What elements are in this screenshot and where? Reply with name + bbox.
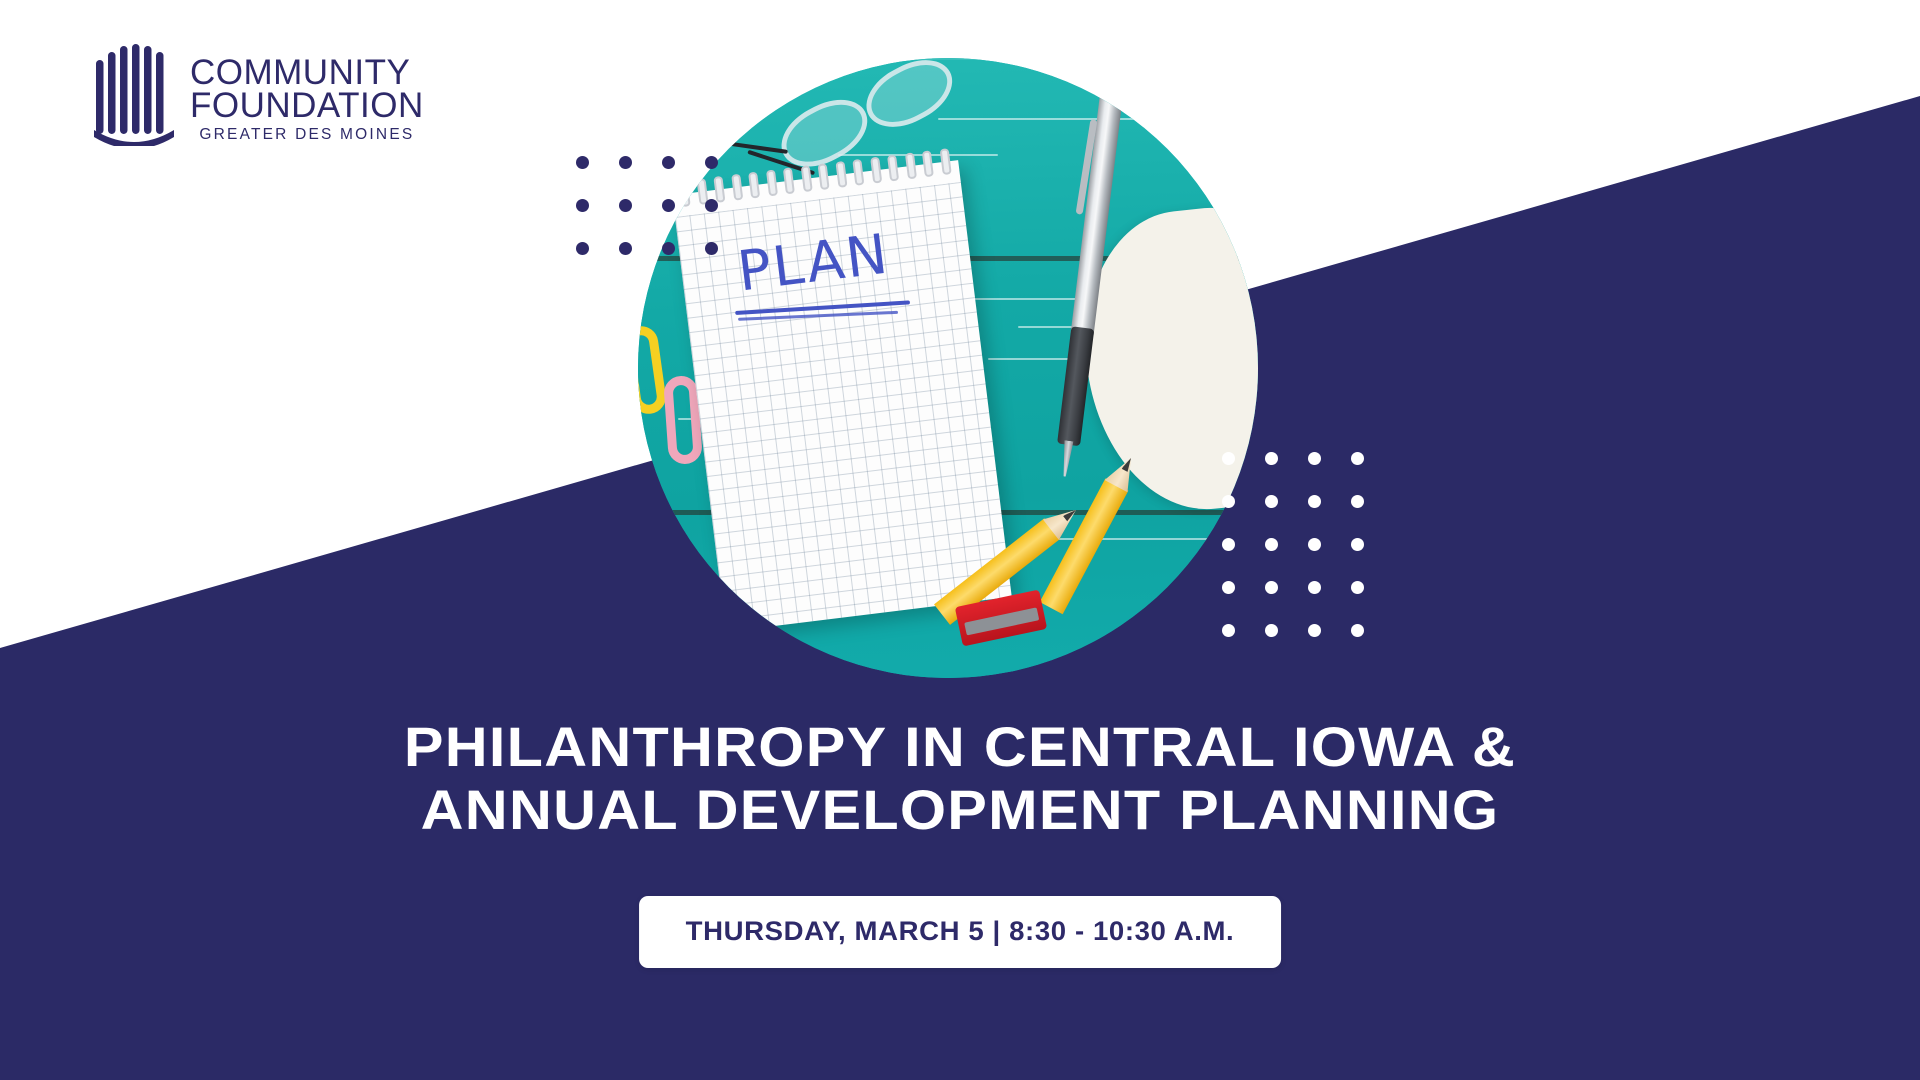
plan-notepad-photo: PLAN	[638, 58, 1258, 678]
dot	[1308, 452, 1321, 465]
dot	[1351, 624, 1364, 637]
event-datetime-text: THURSDAY, MARCH 5 | 8:30 - 10:30 A.M.	[686, 916, 1235, 947]
dot	[1308, 495, 1321, 508]
dot	[576, 199, 589, 212]
logo-line-foundation: FOUNDATION	[190, 89, 424, 123]
column-pillars-mark-icon	[92, 38, 176, 146]
dot	[576, 242, 589, 255]
event-datetime-badge: THURSDAY, MARCH 5 | 8:30 - 10:30 A.M.	[639, 896, 1281, 968]
dot	[1308, 581, 1321, 594]
dot-grid-white	[1222, 452, 1394, 667]
dot	[1265, 581, 1278, 594]
dot	[1222, 538, 1235, 551]
dot	[1308, 538, 1321, 551]
logo-wordmark: COMMUNITY FOUNDATION GREATER DES MOINES	[190, 56, 424, 146]
sharpener-blade	[964, 607, 1039, 635]
dot	[705, 242, 718, 255]
logo-line-greater-des-moines: GREATER DES MOINES	[190, 126, 424, 144]
community-foundation-logo[interactable]: COMMUNITY FOUNDATION GREATER DES MOINES	[92, 38, 424, 146]
dot	[1222, 581, 1235, 594]
dot	[619, 156, 632, 169]
dot	[705, 156, 718, 169]
lens	[856, 58, 964, 140]
dot	[705, 199, 718, 212]
dot	[1351, 495, 1364, 508]
dot	[1351, 538, 1364, 551]
logo-line-community: COMMUNITY	[190, 56, 424, 90]
dot	[1351, 452, 1364, 465]
dot	[662, 156, 675, 169]
dot	[1265, 538, 1278, 551]
headline-line-1: PHILANTHROPY IN CENTRAL IOWA &	[0, 716, 1920, 779]
dot	[1222, 495, 1235, 508]
dot	[1222, 624, 1235, 637]
dot	[1265, 452, 1278, 465]
poster-canvas: COMMUNITY FOUNDATION GREATER DES MOINES	[0, 0, 1920, 1080]
dot	[662, 242, 675, 255]
dot	[1351, 581, 1364, 594]
pen-tip	[1060, 440, 1073, 477]
headline-line-2: ANNUAL DEVELOPMENT PLANNING	[0, 779, 1920, 842]
dot	[1308, 624, 1321, 637]
dot	[619, 199, 632, 212]
dot	[662, 199, 675, 212]
dot	[619, 242, 632, 255]
dot	[1265, 624, 1278, 637]
dot	[576, 156, 589, 169]
dot	[1265, 495, 1278, 508]
page-title: PHILANTHROPY IN CENTRAL IOWA & ANNUAL DE…	[0, 716, 1920, 841]
dot	[1222, 452, 1235, 465]
dot-grid-navy	[576, 156, 748, 285]
